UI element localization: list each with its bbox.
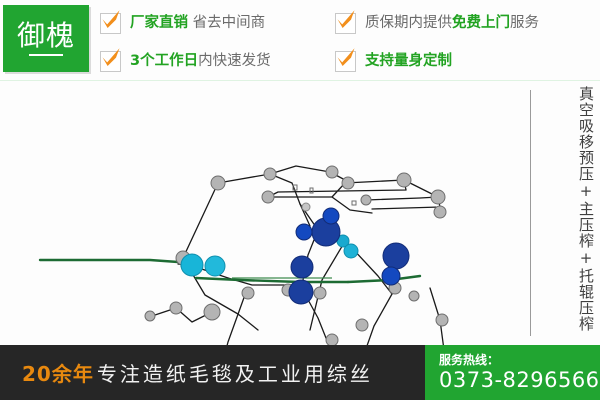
- page-root: 御槐 厂家直销 省去中间商: [0, 0, 600, 400]
- selling-point-plain: 内快速发货: [198, 53, 271, 69]
- selling-point-text: 质保期内提供免费上门服务: [365, 14, 539, 32]
- footer-years: 20余年: [22, 358, 94, 387]
- selling-point-text: 支持量身定制: [365, 52, 452, 70]
- selling-point-text: 3个工作日内快速发货: [130, 52, 271, 70]
- hotline-number[interactable]: 0373-8296566: [439, 368, 600, 392]
- selling-point-plain: 省去中间商: [188, 15, 265, 31]
- check-icon: [335, 13, 356, 34]
- check-icon: [100, 13, 121, 34]
- selling-points-column-right: 质保期内提供免费上门服务 支持量身定制: [335, 2, 539, 78]
- selling-point-highlight: 免费上门: [452, 15, 510, 31]
- footer-slogan-group: 20余年 专注造纸毛毯及工业用综丝: [22, 345, 373, 400]
- selling-point-highlight: 厂家直销: [130, 15, 188, 31]
- selling-point-item: 支持量身定制: [335, 44, 539, 78]
- selling-point-item: 厂家直销 省去中间商: [100, 6, 271, 40]
- selling-point-text: 厂家直销 省去中间商: [130, 14, 265, 32]
- selling-points: 厂家直销 省去中间商 3个工作日内快速发货: [100, 2, 600, 78]
- check-icon: [100, 51, 121, 72]
- brand-logo-underline: [29, 54, 63, 56]
- selling-point-highlight: 支持量身定制: [365, 53, 452, 69]
- selling-point-plain-before: 质保期内提供: [365, 15, 452, 31]
- process-caption-text: 真空吸移预压+主压榨+托辊压榨: [571, 86, 594, 336]
- footer-slogan: 专注造纸毛毯及工业用综丝: [97, 358, 373, 387]
- selling-point-highlight: 3个工作日: [130, 53, 198, 69]
- brand-logo-inner: 御槐: [17, 21, 75, 56]
- product-illustration-area: 真空吸移预压+主压榨+托辊压榨: [0, 80, 600, 345]
- process-caption: 真空吸移预压+主压榨+托辊压榨: [524, 86, 594, 338]
- brand-logo[interactable]: 御槐: [3, 5, 89, 72]
- footer-bar: 20余年 专注造纸毛毯及工业用综丝 服务热线： 0373-8296566: [0, 345, 600, 400]
- hotline-label: 服务热线：: [439, 353, 600, 368]
- selling-point-plain-after: 服务: [510, 15, 539, 31]
- selling-points-column-left: 厂家直销 省去中间商 3个工作日内快速发货: [100, 2, 271, 78]
- process-caption-rule: [530, 90, 531, 336]
- selling-point-item: 质保期内提供免费上门服务: [335, 6, 539, 40]
- check-icon: [335, 51, 356, 72]
- hotline-panel[interactable]: 服务热线： 0373-8296566: [425, 345, 600, 400]
- header-bar: 御槐 厂家直销 省去中间商: [0, 0, 600, 80]
- brand-logo-text: 御槐: [17, 21, 75, 51]
- paper-machine-press-section-diagram: [0, 80, 600, 345]
- selling-point-item: 3个工作日内快速发货: [100, 44, 271, 78]
